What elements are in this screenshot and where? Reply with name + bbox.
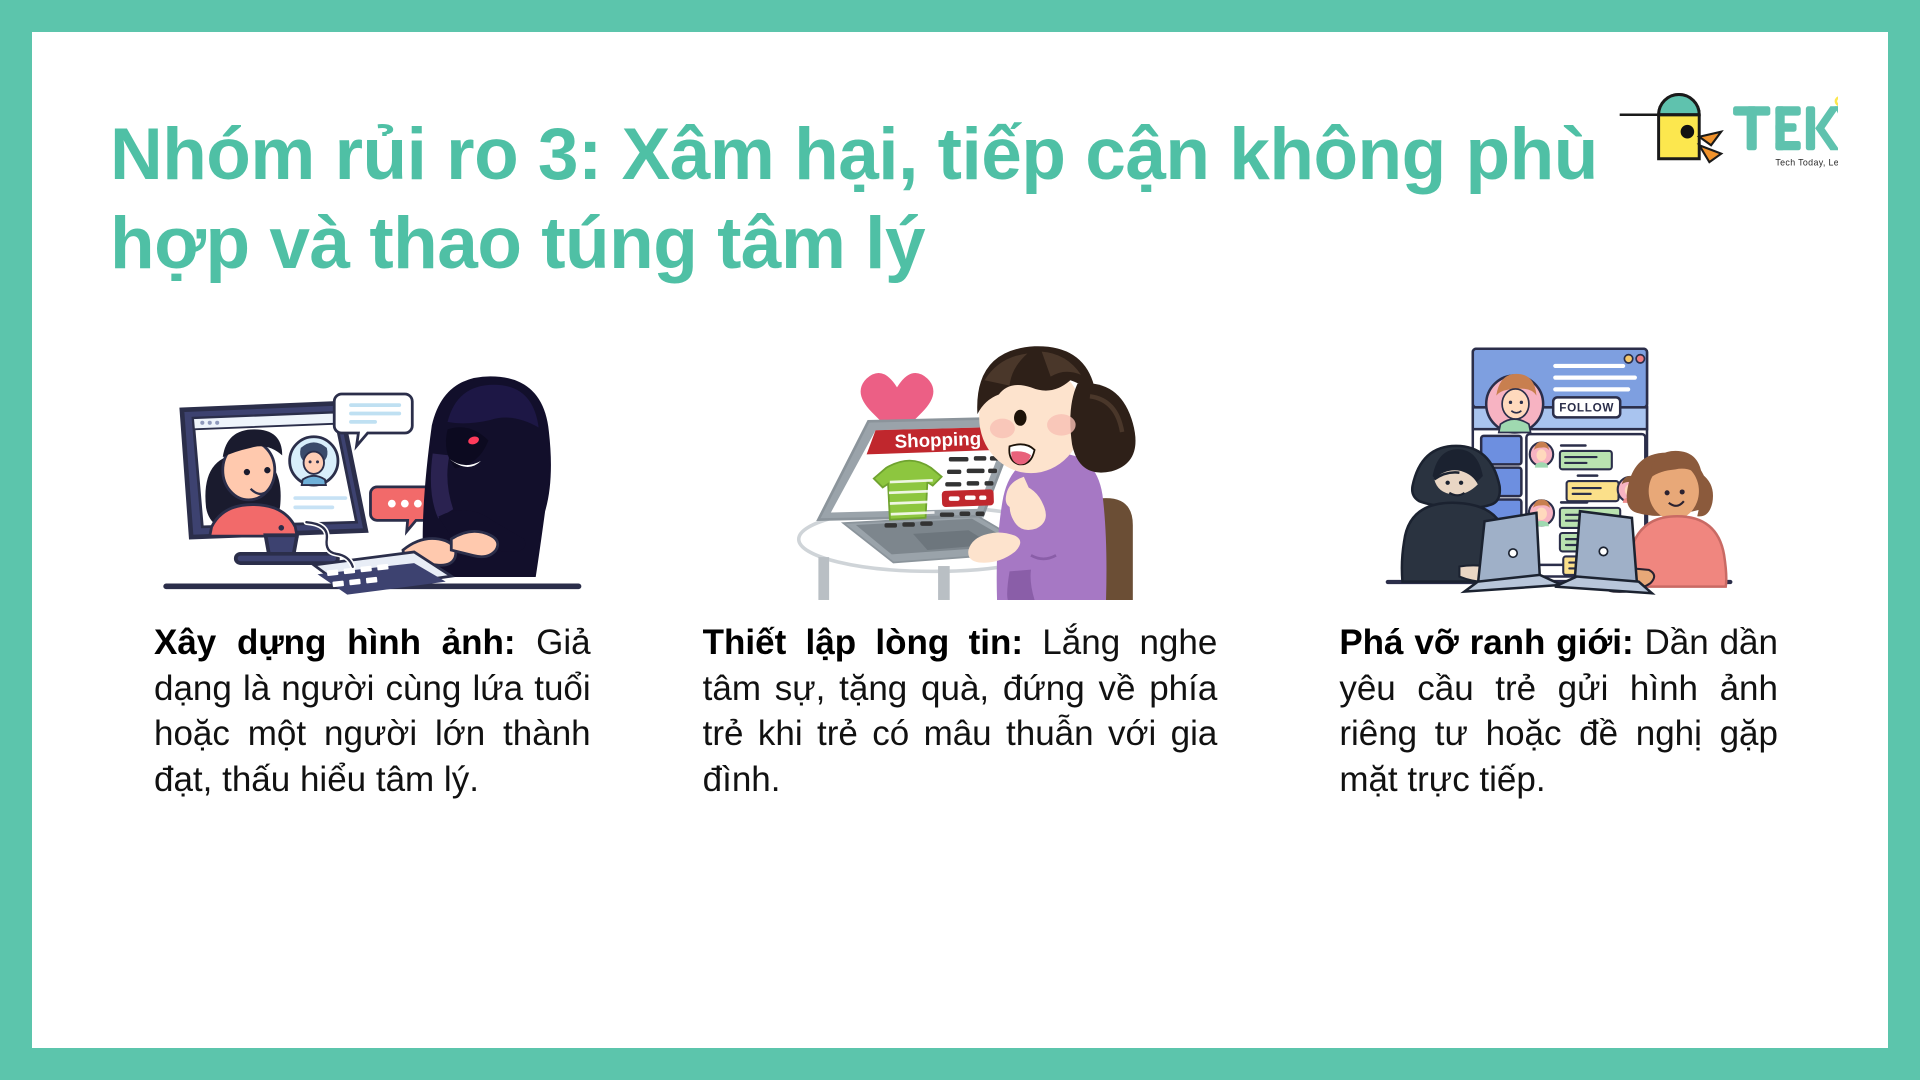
slide-frame: Nhóm rủi ro 3: Xâm hại, tiếp cận không p… xyxy=(0,0,1920,1080)
column-3-heading: Phá vỡ ranh giới: xyxy=(1339,623,1633,662)
illustration-girl-shopping-laptop: Shopping xyxy=(703,332,1218,600)
column-pha-vo-ranh-gioi: FOLLOW xyxy=(1269,332,1888,802)
content-columns: Xây dựng hình ảnh: Giả dạng là người cùn… xyxy=(32,332,1888,802)
column-3-text: Phá vỡ ranh giới: Dần dần yêu cầu trẻ gử… xyxy=(1339,620,1778,802)
teky-logo: Tech Today, Lead Tomorrow xyxy=(1618,84,1838,176)
follow-button-label: FOLLOW xyxy=(1559,402,1614,415)
column-2-heading: Thiết lập lòng tin: xyxy=(703,623,1023,662)
slide-card: Nhóm rủi ro 3: Xâm hại, tiếp cận không p… xyxy=(32,32,1888,1048)
slide-header: Nhóm rủi ro 3: Xâm hại, tiếp cận không p… xyxy=(32,32,1888,332)
column-2-text: Thiết lập lòng tin: Lắng nghe tâm sự, tặ… xyxy=(703,620,1218,802)
column-1-text: Xây dựng hình ảnh: Giả dạng là người cùn… xyxy=(154,620,591,802)
illustration-hacker-chat xyxy=(154,332,591,600)
column-xay-dung-hinh-anh: Xây dựng hình ảnh: Giả dạng là người cùn… xyxy=(32,332,651,802)
column-thiet-lap-long-tin: Shopping xyxy=(651,332,1270,802)
illustration-social-profile-two-laptops: FOLLOW xyxy=(1339,332,1778,600)
laptop-screen-banner-label: Shopping xyxy=(895,428,982,452)
page-title: Nhóm rủi ro 3: Xâm hại, tiếp cận không p… xyxy=(110,110,1640,288)
svg-text:Tech Today, Lead Tomorrow: Tech Today, Lead Tomorrow xyxy=(1775,158,1838,168)
column-1-heading: Xây dựng hình ảnh: xyxy=(154,623,516,662)
